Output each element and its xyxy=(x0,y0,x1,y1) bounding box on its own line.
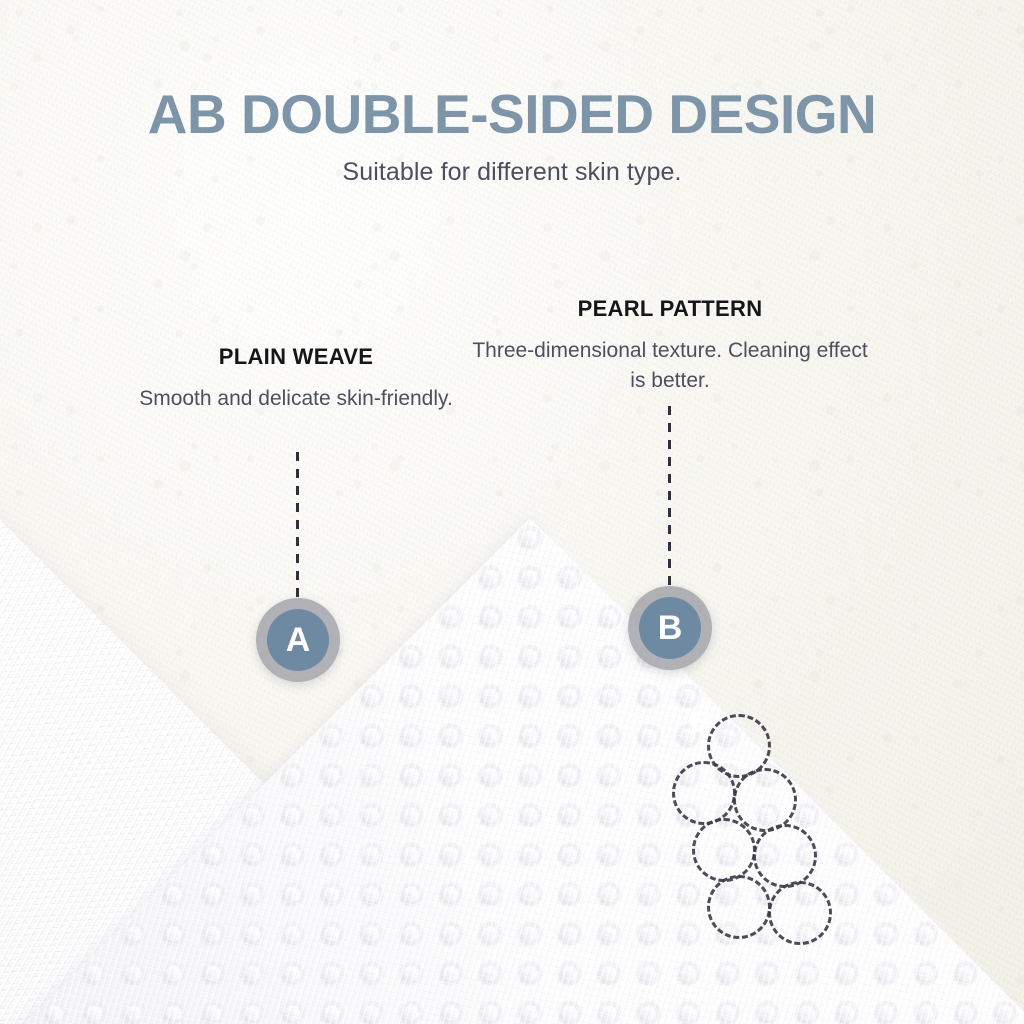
callout-pearl-pattern: PEARL PATTERN Three-dimensional texture.… xyxy=(470,296,870,396)
pearl-highlight-ring xyxy=(768,881,832,945)
callout-title-plain-weave: PLAIN WEAVE xyxy=(96,344,496,370)
infographic-canvas: AB DOUBLE-SIDED DESIGN Suitable for diff… xyxy=(0,0,1024,1024)
badge-marker-a: A xyxy=(256,598,340,682)
pearl-highlight-ring xyxy=(672,761,736,825)
pearl-highlight-ring xyxy=(733,768,797,832)
pearl-highlight-ring xyxy=(753,824,817,888)
product-photo xyxy=(0,430,1024,1024)
badge-letter-a: A xyxy=(286,623,311,657)
badge-letter-b: B xyxy=(658,611,683,645)
callout-description-pearl-pattern: Three-dimensional texture. Cleaning effe… xyxy=(470,336,870,396)
badge-marker-b: B xyxy=(628,586,712,670)
callout-plain-weave: PLAIN WEAVE Smooth and delicate skin-fri… xyxy=(96,344,496,414)
leader-line-a xyxy=(296,452,299,602)
page-subtitle: Suitable for different skin type. xyxy=(0,158,1024,187)
callout-description-plain-weave: Smooth and delicate skin-friendly. xyxy=(96,384,496,414)
leader-line-b xyxy=(668,406,671,586)
badge-inner-a: A xyxy=(267,609,329,671)
pearl-highlight-ring xyxy=(692,818,756,882)
header-block: AB DOUBLE-SIDED DESIGN Suitable for diff… xyxy=(0,86,1024,187)
badge-inner-b: B xyxy=(639,597,701,659)
watermark-logo: B xyxy=(690,708,711,738)
pearl-highlight-ring xyxy=(707,875,771,939)
page-title: AB DOUBLE-SIDED DESIGN xyxy=(0,86,1024,144)
callout-title-pearl-pattern: PEARL PATTERN xyxy=(470,296,870,322)
